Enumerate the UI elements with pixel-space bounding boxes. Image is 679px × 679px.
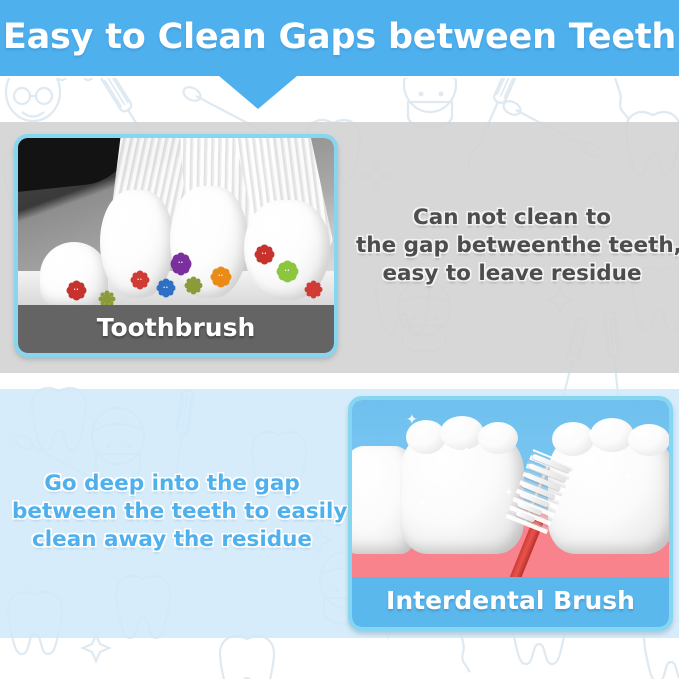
germ-icon: •• [258, 248, 271, 261]
sparkle-icon: ✦ [504, 488, 513, 499]
interdental-brush-illustration: ✦ ✦ ✦ ✦ ✦ ✦ ✦ [352, 400, 669, 577]
positive-description-text: Go deep into the gap between the teeth t… [12, 470, 332, 554]
germ-icon: •• [174, 256, 188, 272]
positive-text-line-3: clean away the residue [12, 526, 332, 554]
page-title: Easy to Clean Gaps between Teeth [0, 0, 679, 76]
germ-icon: •• [134, 274, 146, 286]
germ-icon [188, 280, 199, 291]
germ-icon [308, 284, 319, 295]
negative-text-line-2: the gap betweenthe teeth, [356, 232, 668, 260]
negative-description-text: Can not clean to the gap betweenthe teet… [356, 204, 668, 288]
positive-text-line-1: Go deep into the gap [12, 470, 332, 498]
tooth-shape [170, 186, 248, 298]
germ-icon: •• [280, 264, 295, 279]
sparkle-icon: ✦ [586, 430, 595, 441]
germ-icon: •• [160, 282, 172, 294]
infographic-page: Easy to Clean Gaps between Teeth •• •• •… [0, 0, 679, 679]
germ-icon [102, 294, 112, 304]
sparkle-icon: ✦ [462, 446, 471, 457]
interdental-brush-comparison-card: ✦ ✦ ✦ ✦ ✦ ✦ ✦ Interdental Brush [348, 396, 673, 631]
toothbrush-card-caption: Toothbrush [18, 305, 334, 353]
header-notch-arrow [219, 76, 297, 109]
negative-text-line-3: easy to leave residue [356, 260, 668, 288]
toothbrush-illustration: •• •• •• •• •• •• •• [18, 138, 334, 305]
toothbrush-comparison-card: •• •• •• •• •• •• •• Toothbrush [14, 134, 338, 357]
positive-text-line-2: between the teeth to easily [12, 498, 332, 526]
sparkle-icon: ✦ [406, 414, 418, 425]
germ-icon: •• [70, 284, 83, 297]
interdental-brush-card-caption: Interdental Brush [352, 577, 669, 627]
tooth-shape [548, 432, 669, 554]
header-banner: Easy to Clean Gaps between Teeth [0, 0, 679, 78]
sparkle-icon: ✦ [418, 498, 427, 509]
sparkle-icon: ✦ [624, 472, 633, 483]
germ-icon: •• [214, 270, 228, 284]
negative-text-line-1: Can not clean to [356, 204, 668, 232]
sparkle-icon: ✦ [370, 462, 379, 473]
